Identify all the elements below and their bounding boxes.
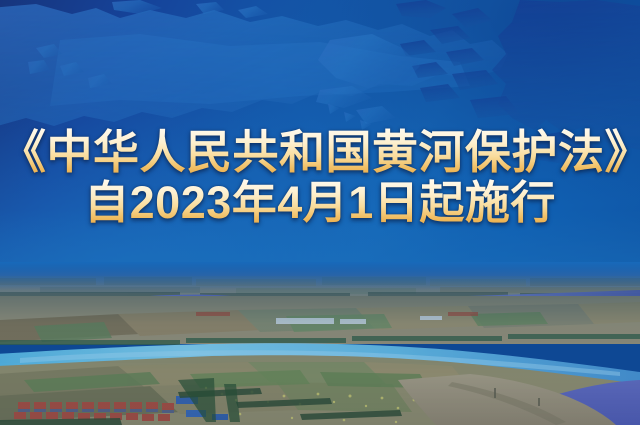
photo-top-blend [0,262,640,290]
headline-block: 《中华人民共和国黄河保护法》 自2023年4月1日起施行 [0,128,640,226]
headline-line-2: 自2023年4月1日起施行 [0,179,640,227]
poster-root: 《中华人民共和国黄河保护法》 自2023年4月1日起施行 [0,0,640,425]
aerial-photo-yellow-river [0,262,640,425]
headline-line-1: 《中华人民共和国黄河保护法》 [0,128,640,177]
